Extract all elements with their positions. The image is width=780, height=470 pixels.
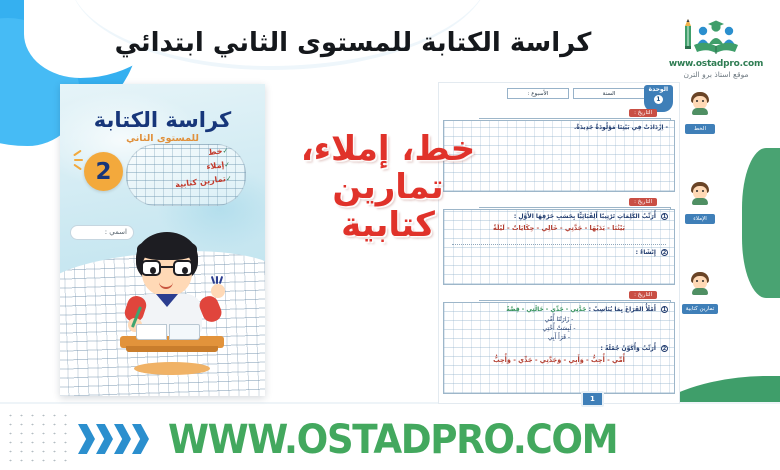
question-text: أُرَتِّبُ الكَلِمَاتِ تَرْتِيبًا أَلِفْب… bbox=[514, 213, 656, 220]
unit-number: 1 bbox=[654, 95, 663, 104]
exercise-question-2: 2 إِنْشَاءٌ : bbox=[450, 249, 668, 256]
headline-line-1: خط، إملاء، bbox=[288, 130, 488, 168]
side-tab-label: الإملاء bbox=[685, 214, 715, 224]
headline-line-3: كتابية bbox=[288, 206, 488, 244]
question-number: 1 bbox=[661, 213, 668, 220]
brand-tagline: موقع استاذ برو الترن bbox=[660, 70, 772, 79]
book-cover-title: كراسة الكتابة bbox=[60, 108, 265, 132]
glasses-icon bbox=[141, 260, 193, 277]
question-word-bank: جَدَّتِي - جَدِّي - خَالَتِي - قِصَّةً bbox=[506, 306, 586, 313]
side-tab-label: الخط bbox=[685, 124, 715, 134]
question-text: أَمْلَأُ الفَرَاغَ بِمَا يُنَاسِبُ : bbox=[589, 306, 656, 313]
answer-line-2: - لَبِسَتْ أُخْتِي bbox=[450, 325, 668, 332]
worksheet-block-3: التاريخ : 1 أَمْلَأُ الفَرَاغَ بِمَا يُن… bbox=[443, 291, 675, 394]
boy-avatar-icon bbox=[689, 92, 711, 114]
fringe-shape bbox=[137, 238, 197, 260]
header-field-level[interactable]: السنة bbox=[573, 88, 645, 99]
date-row: التاريخ : bbox=[443, 109, 675, 120]
cover-checklist-card: ✓خط ✓إملاء ✓تمارين كتابية bbox=[126, 144, 246, 206]
level-badge: 2 bbox=[84, 152, 123, 191]
page-title: كراسة الكتابة للمستوى الثاني ابتدائي bbox=[70, 28, 636, 59]
check-icon: ✓ bbox=[222, 147, 229, 156]
exercise-question-1: 1 أَمْلَأُ الفَرَاغَ بِمَا يُنَاسِبُ : ج… bbox=[450, 306, 668, 313]
unit-label: الوحدة bbox=[649, 86, 668, 93]
boy-illustration bbox=[114, 232, 226, 382]
side-tab-imla[interactable]: الإملاء bbox=[678, 182, 722, 224]
promo-headline: خط، إملاء، تمارين كتابية bbox=[288, 130, 488, 244]
brand-url: www.ostadpro.com bbox=[660, 59, 772, 69]
question-number: 2 bbox=[661, 249, 668, 256]
date-tab: التاريخ : bbox=[629, 291, 657, 299]
header-field-week[interactable]: الأسبوع : bbox=[507, 88, 569, 99]
answer-line-1: - زَارَتْنَا أُمِّي bbox=[450, 316, 668, 323]
book-cover[interactable]: كراسة الكتابة للمستوى الثاني 2 ✓خط ✓إملا… bbox=[60, 84, 265, 396]
unit-badge: الوحدة 1 bbox=[644, 85, 673, 112]
footer-url[interactable]: WWW.OSTADPRO.COM bbox=[168, 417, 617, 463]
worksheet-side-tabs: الخط الإملاء تمارين كتابية bbox=[678, 82, 722, 404]
check-icon: ✓ bbox=[224, 161, 231, 170]
desk-front-shape bbox=[126, 346, 218, 352]
checklist-label: تمارين كتابية bbox=[175, 174, 227, 189]
open-book-icon bbox=[136, 324, 200, 340]
worksheet-header: الوحدة 1 السنة الأسبوع : bbox=[445, 87, 673, 103]
boy-avatar-icon bbox=[689, 182, 711, 204]
exercise-question-2: 2 أُرَتِّبُ وَأُكَوِّنُ جُمْلَةً : bbox=[450, 345, 668, 352]
check-icon: ✓ bbox=[225, 174, 232, 183]
date-tab: التاريخ : bbox=[629, 198, 657, 206]
chevron-arrows-icon bbox=[78, 424, 149, 454]
checklist-label: إملاء bbox=[206, 160, 225, 171]
word-list-2: أُمِّي - أُحِبُّ - وَأَبِي - وَجَدَّتِي … bbox=[450, 356, 668, 364]
boy-avatar-icon bbox=[689, 272, 711, 294]
checklist-label: خط bbox=[208, 146, 223, 157]
side-tab-label: تمارين كتابية bbox=[682, 304, 719, 314]
shadow-ellipse bbox=[134, 362, 210, 375]
promo-banner: كراسة الكتابة للمستوى الثاني ابتدائي bbox=[0, 0, 780, 470]
dot-grid-decoration bbox=[5, 411, 71, 463]
question-number: 2 bbox=[661, 345, 668, 352]
date-row: التاريخ : bbox=[443, 291, 675, 302]
brand-logo[interactable]: www.ostadpro.com موقع استاذ برو الترن bbox=[660, 14, 772, 79]
answer-lines[interactable]: - زَارَتْنَا أُمِّي - لَبِسَتْ أُخْتِي -… bbox=[450, 316, 668, 341]
green-strip-decoration bbox=[742, 148, 780, 298]
book-cover-subtitle: للمستوى الثاني bbox=[60, 133, 265, 144]
ostadpro-logo-icon bbox=[660, 14, 772, 58]
question-text: إِنْشَاءٌ : bbox=[636, 249, 656, 256]
side-tab-khat[interactable]: الخط bbox=[678, 92, 722, 134]
question-number: 1 bbox=[661, 306, 668, 313]
page-number-badge: 1 bbox=[581, 391, 604, 407]
wave-motion-icon bbox=[212, 276, 224, 288]
headline-line-2: تمارين bbox=[288, 168, 488, 206]
handwriting-grid-3[interactable]: 1 أَمْلَأُ الفَرَاغَ بِمَا يُنَاسِبُ : ج… bbox=[443, 302, 675, 394]
date-tab: التاريخ : bbox=[629, 109, 657, 117]
answer-line-3: - قَرَأَ أَبِي bbox=[450, 334, 668, 341]
side-tab-tamarin[interactable]: تمارين كتابية bbox=[678, 272, 722, 314]
question-text: أُرَتِّبُ وَأُكَوِّنُ جُمْلَةً : bbox=[601, 345, 656, 352]
